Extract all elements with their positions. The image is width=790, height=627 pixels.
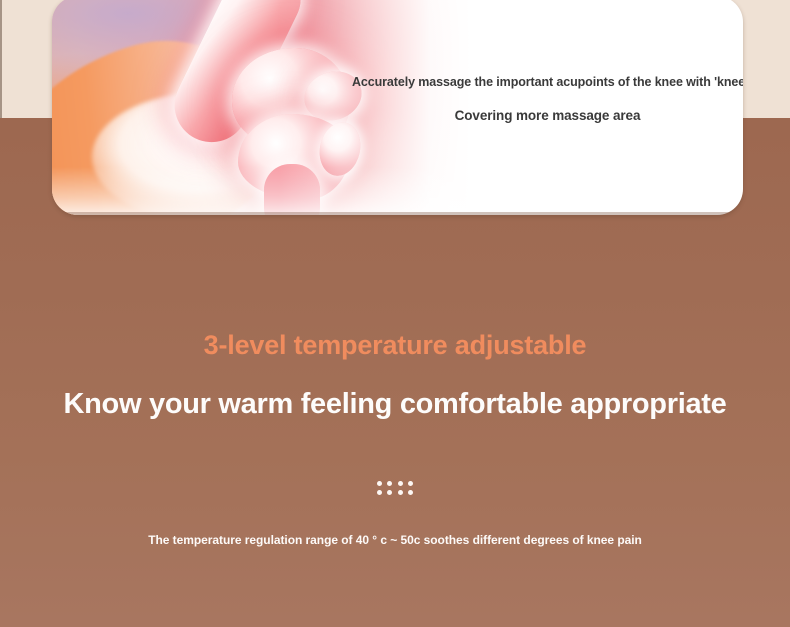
caption-temperature-range: The temperature regulation range of 40 °… [0,533,790,547]
headline-warm-feeling: Know your warm feeling comfortable appro… [0,388,790,421]
hero-card: Accurately massage the important acupoin… [52,0,743,215]
product-feature-page: Accurately massage the important acupoin… [0,0,790,627]
dot [408,481,413,486]
dot [398,481,403,486]
left-edge-line [0,0,2,118]
hero-card-line-1: Accurately massage the important acupoin… [352,75,743,89]
dot [408,490,413,495]
dot [377,481,382,486]
dot [398,490,403,495]
hero-card-text-block: Accurately massage the important acupoin… [352,0,743,215]
dot [377,490,382,495]
dot [387,481,392,486]
decorative-dot-grid [374,479,416,497]
hero-card-line-2: Covering more massage area [352,108,743,123]
dot [387,490,392,495]
headline-temperature-levels: 3-level temperature adjustable [0,330,790,361]
